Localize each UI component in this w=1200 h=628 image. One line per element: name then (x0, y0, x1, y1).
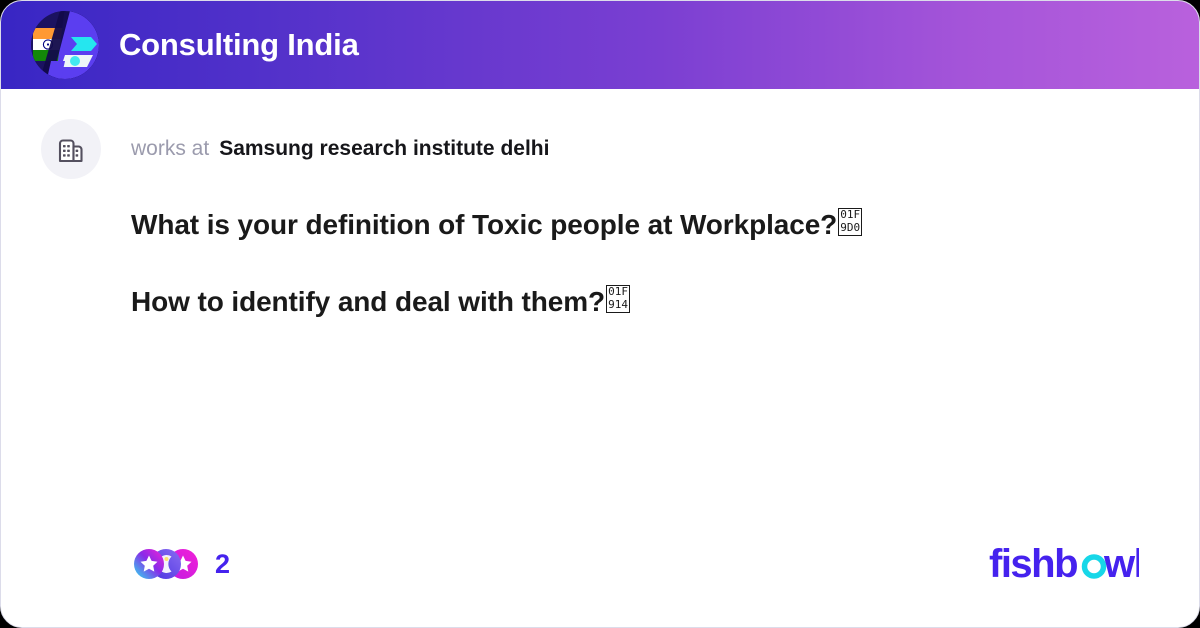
card-header: Consulting India (1, 1, 1200, 89)
post-line-1-text: What is your definition of Toxic people … (131, 209, 837, 240)
fishbowl-letters-after: wl (1103, 542, 1139, 586)
consulting-india-avatar[interactable] (31, 11, 99, 79)
emoji-codepoint-bottom: 914 (607, 299, 629, 312)
reactions-group[interactable]: 2 (133, 547, 230, 581)
emoji-codepoint-bottom: 9D0 (839, 222, 861, 235)
works-at-label: works at (131, 137, 209, 161)
avatar-artwork (31, 11, 99, 79)
post-line-2-text: How to identify and deal with them? (131, 286, 605, 317)
emoji-codepoint-top: 01F (607, 286, 629, 299)
post-line-1: What is your definition of Toxic people … (131, 207, 1091, 242)
post-line-2: How to identify and deal with them?01F91… (131, 284, 1091, 319)
face-with-monocle-emoji: 01F9D0 (838, 208, 862, 236)
fishbowl-wordmark: fishb wl (989, 541, 1139, 589)
reaction-badges-artwork (133, 547, 205, 581)
fishbowl-letter-o (1085, 557, 1104, 576)
page-title: Consulting India (119, 27, 359, 63)
profile-text: works at Samsung research institute delh… (131, 137, 549, 161)
building-icon-glyph (55, 133, 87, 165)
fishbowl-letters-before: fishb (989, 542, 1077, 586)
company-building-icon (41, 119, 101, 179)
emoji-codepoint-top: 01F (839, 209, 861, 222)
fishbowl-logo: fishb wl (989, 541, 1139, 589)
reaction-badges[interactable] (133, 547, 205, 581)
thinking-face-emoji: 01F914 (606, 285, 630, 313)
reaction-count: 2 (215, 549, 230, 580)
company-name: Samsung research institute delhi (219, 137, 549, 161)
profile-row: works at Samsung research institute delh… (41, 119, 549, 179)
post-content: What is your definition of Toxic people … (131, 207, 1091, 319)
card-body: works at Samsung research institute delh… (1, 89, 1200, 628)
fishbowl-post-card: Consulting India (0, 0, 1200, 628)
